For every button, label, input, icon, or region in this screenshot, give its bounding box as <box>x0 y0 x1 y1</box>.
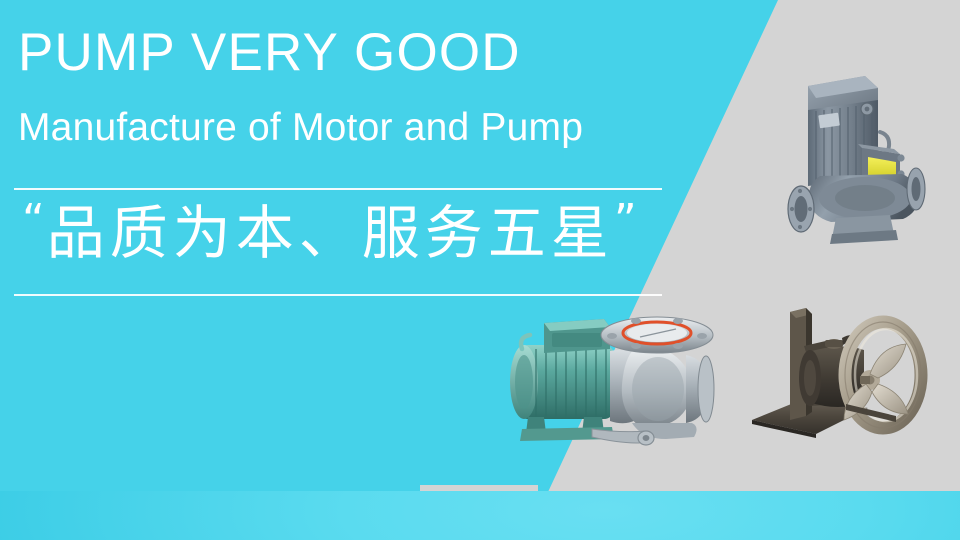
slogan-close-quote: ” <box>614 195 639 246</box>
slogan-open-quote: “ <box>22 195 47 246</box>
product-image-vertical-inline-pump <box>770 58 940 248</box>
subtitle: Manufacture of Motor and Pump <box>18 108 583 147</box>
bottom-color-band <box>0 491 960 540</box>
page-title: PUMP VERY GOOD <box>18 26 521 79</box>
slogan: “品质为本、服务五星” <box>22 199 639 262</box>
divider-bottom <box>14 294 662 296</box>
promo-banner: PUMP VERY GOOD Manufacture of Motor and … <box>0 0 960 540</box>
slogan-text: 品质为本、服务五星 <box>47 199 614 267</box>
divider-top <box>14 188 662 190</box>
product-image-submersible-mixer <box>750 300 945 450</box>
product-image-horizontal-centrifugal-pump <box>500 305 730 460</box>
